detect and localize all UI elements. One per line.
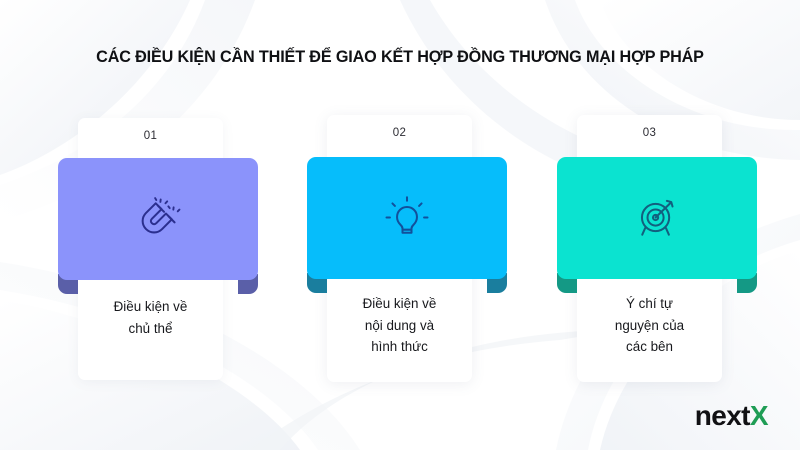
logo-text-main: next: [695, 400, 750, 431]
cards-row: 01 Điều kiện về chủ thể 02 Điều kiện về …: [0, 112, 800, 392]
card-panel-01[interactable]: [58, 158, 258, 280]
logo-text-accent: X: [750, 400, 768, 431]
card-number: 03: [577, 127, 722, 139]
magnet-icon: [135, 196, 181, 242]
card-label: Điều kiện về chủ thể: [78, 296, 223, 339]
target-icon: [634, 195, 680, 241]
slide-canvas: CÁC ĐIỀU KIỆN CẦN THIẾT ĐỂ GIAO KẾT HỢP …: [0, 0, 800, 450]
card-panel-03[interactable]: [557, 157, 757, 279]
card-label: Ý chí tự nguyện của các bên: [577, 293, 722, 358]
card-number: 01: [78, 130, 223, 142]
brand-logo: nextX: [695, 400, 768, 432]
page-title: CÁC ĐIỀU KIỆN CẦN THIẾT ĐỂ GIAO KẾT HỢP …: [0, 48, 800, 67]
card-number: 02: [327, 127, 472, 139]
card-label: Điều kiện về nội dung và hình thức: [327, 293, 472, 358]
card-panel-02[interactable]: [307, 157, 507, 279]
lightbulb-icon: [384, 195, 430, 241]
